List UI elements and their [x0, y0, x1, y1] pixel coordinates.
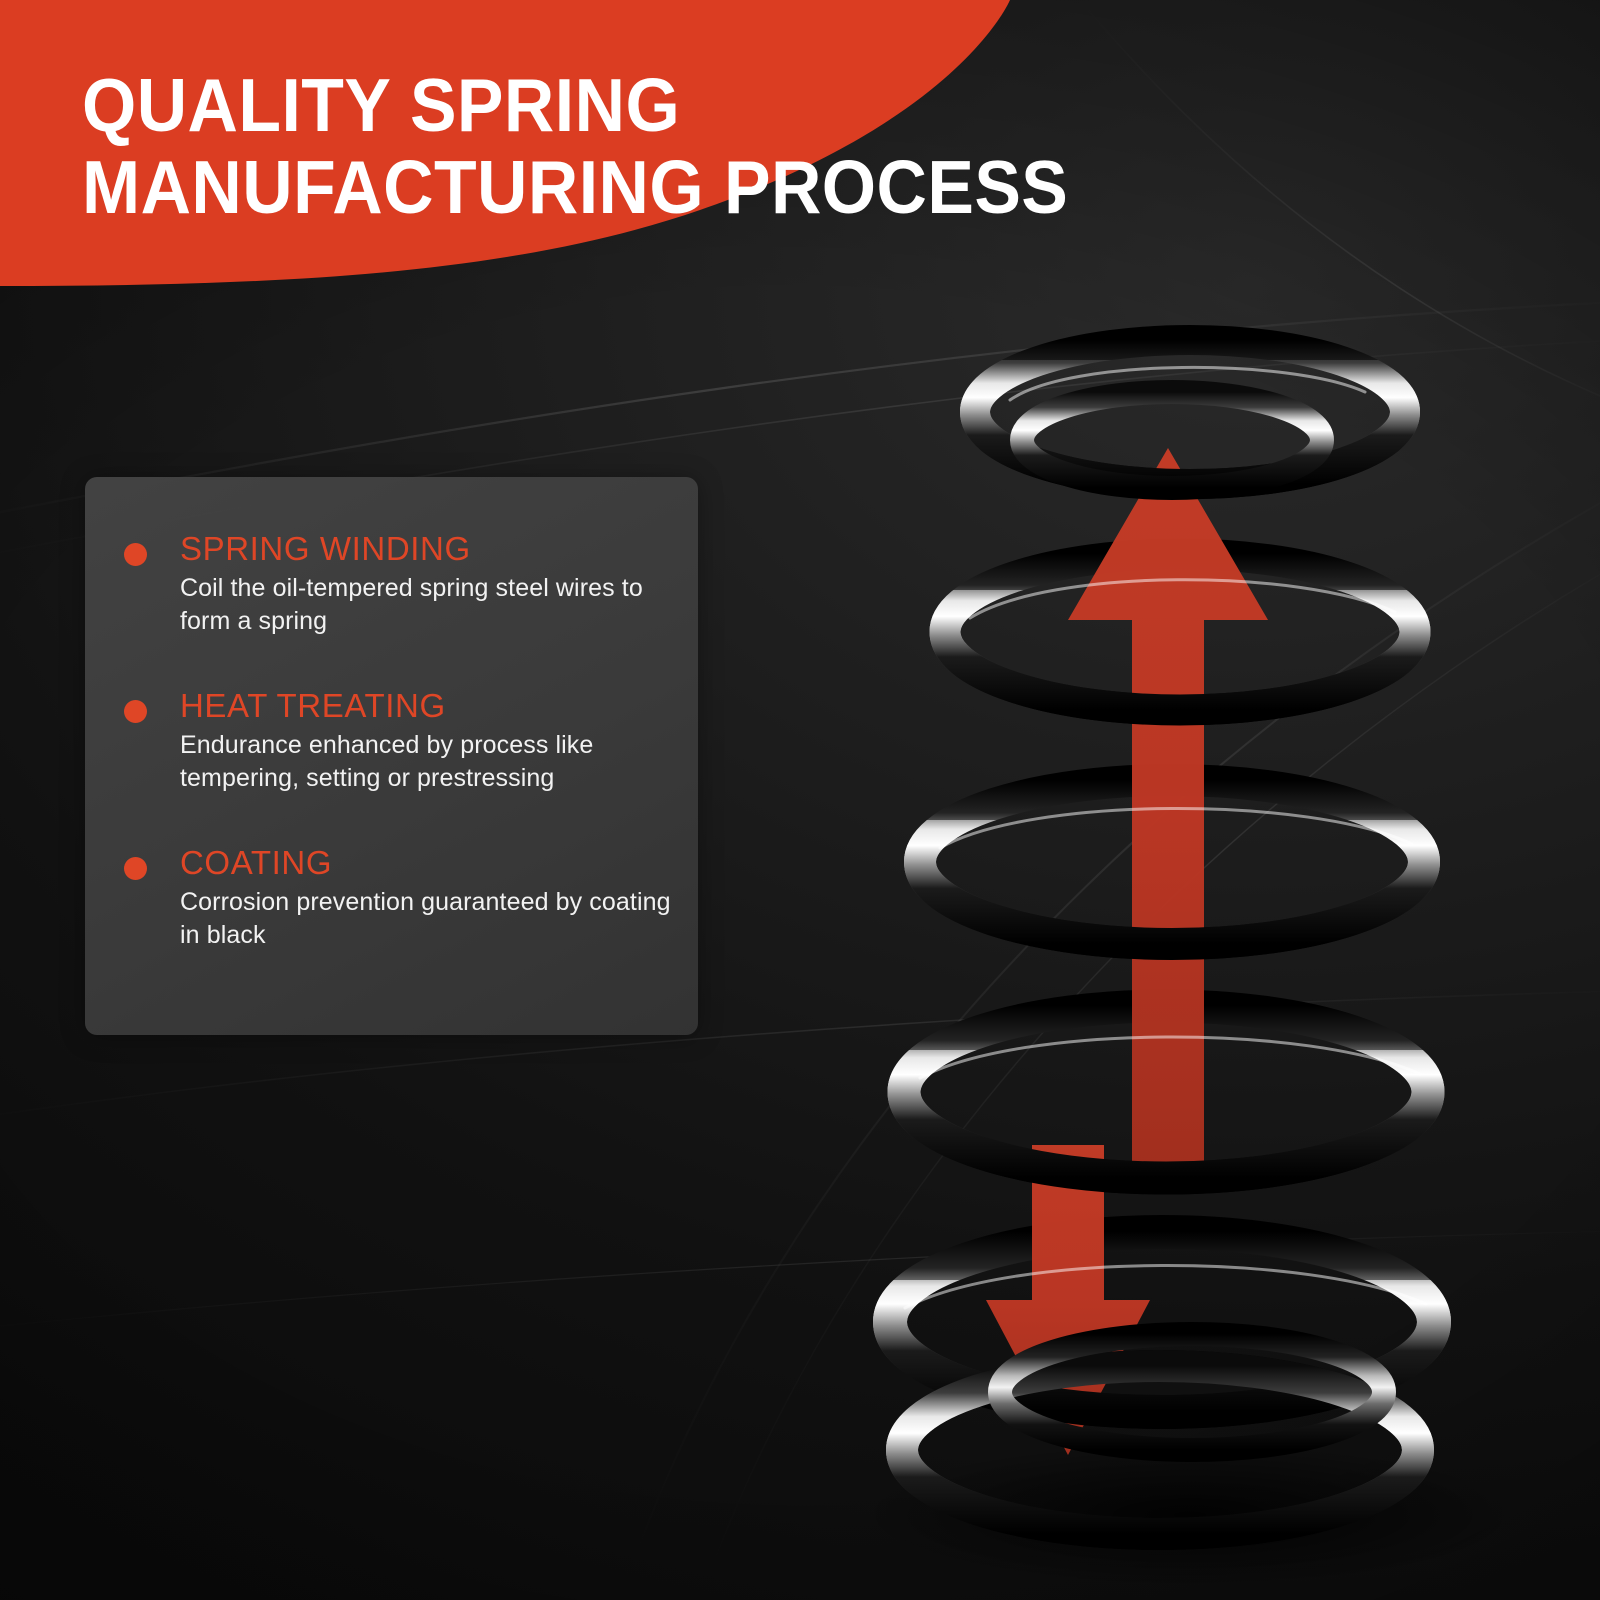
step-description: Endurance enhanced by process like tempe… — [180, 729, 676, 795]
process-steps-panel: SPRING WINDING Coil the oil-tempered spr… — [85, 477, 698, 1035]
step-title: SPRING WINDING — [180, 529, 676, 569]
infographic-canvas: QUALITY SPRING MANUFACTURING PROCESS SPR… — [0, 0, 1600, 1600]
header-red-shape — [0, 0, 1010, 300]
red-dot-bullet-icon — [124, 700, 147, 723]
process-step-spring-winding: SPRING WINDING Coil the oil-tempered spr… — [124, 529, 676, 638]
red-dot-bullet-icon — [124, 543, 147, 566]
process-step-heat-treating: HEAT TREATING Endurance enhanced by proc… — [124, 686, 676, 795]
step-title: COATING — [180, 843, 676, 883]
step-description: Corrosion prevention guaranteed by coati… — [180, 886, 676, 952]
step-title: HEAT TREATING — [180, 686, 676, 726]
red-dot-bullet-icon — [124, 857, 147, 880]
step-description: Coil the oil-tempered spring steel wires… — [180, 572, 676, 638]
process-step-coating: COATING Corrosion prevention guaranteed … — [124, 843, 676, 952]
coil-spring-illustration — [820, 300, 1600, 1590]
